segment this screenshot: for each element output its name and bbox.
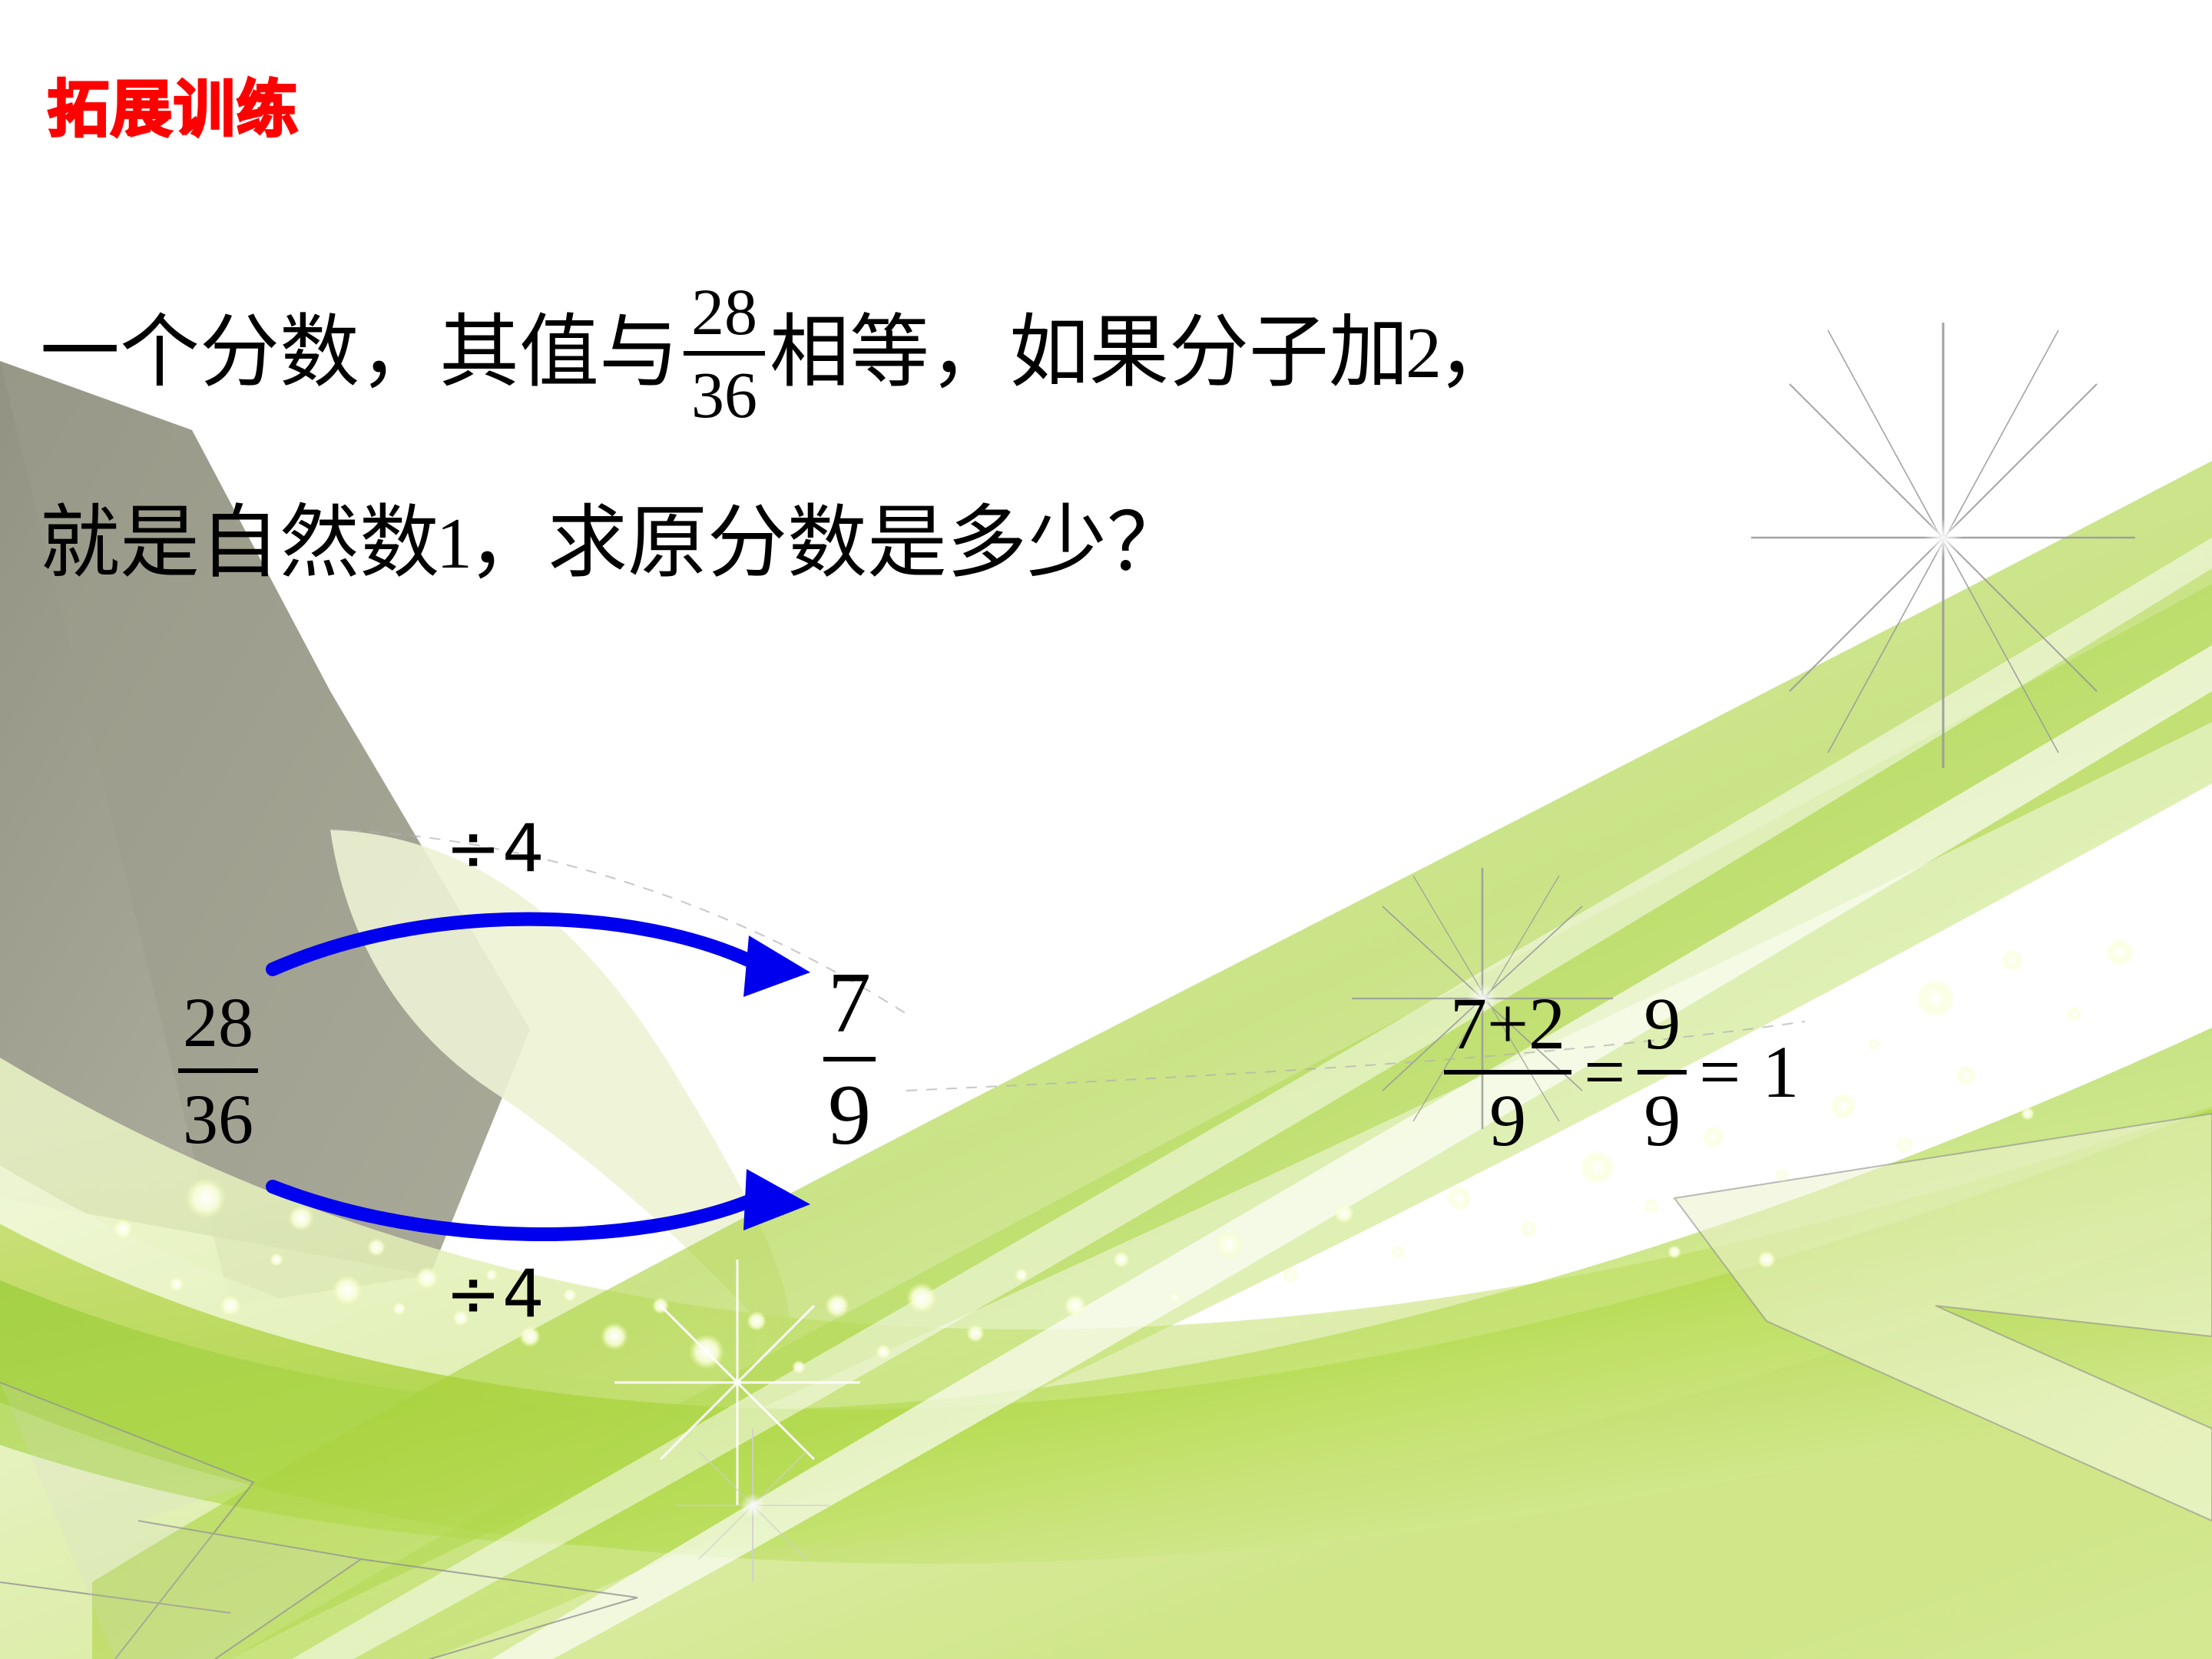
fraction-7-9-denominator: 9 xyxy=(823,1072,876,1158)
fraction-7plus2-over-9: 7+2 9 xyxy=(1444,987,1571,1157)
fraction-9-9-numerator: 9 xyxy=(1637,987,1687,1061)
fraction-28-36-bar xyxy=(178,1068,258,1073)
fraction-7-9-numerator: 7 xyxy=(823,960,876,1046)
fraction-9-over-9: 9 9 xyxy=(1637,987,1687,1157)
slide-canvas: 拓展训练 一个分数，其值与 28 36 相等，如果分子加 2 ， 就是自然数 1… xyxy=(0,0,2212,1659)
fraction-7plus2-denominator: 9 xyxy=(1483,1084,1532,1157)
equals-sign-2: = xyxy=(1699,1035,1740,1109)
fraction-9-9-bar xyxy=(1637,1070,1687,1075)
fraction-28-36: 28 36 xyxy=(178,987,258,1154)
fraction-7-9-bar xyxy=(823,1057,876,1061)
divide-label-bottom: ÷4 xyxy=(445,1256,546,1333)
divide-label-top: ÷4 xyxy=(445,810,546,887)
equals-sign-1: = xyxy=(1584,1035,1625,1109)
fraction-7plus2-numerator: 7+2 xyxy=(1444,987,1571,1061)
result-equation: 7+2 9 = 9 9 = 1 xyxy=(1444,987,1799,1157)
fraction-9-9-denominator: 9 xyxy=(1637,1084,1687,1157)
fraction-28-36-denominator: 36 xyxy=(178,1084,258,1154)
fraction-7plus2-bar xyxy=(1444,1070,1571,1075)
page-title: 拓展训练 xyxy=(48,60,300,149)
fraction-28-36-numerator: 28 xyxy=(178,987,258,1058)
fraction-7-9: 7 9 xyxy=(823,960,876,1158)
equation-result: 1 xyxy=(1762,1035,1799,1109)
worked-solution: 28 36 7 9 ÷4 ÷4 7+2 9 = 9 9 = 1 xyxy=(0,0,2212,1659)
